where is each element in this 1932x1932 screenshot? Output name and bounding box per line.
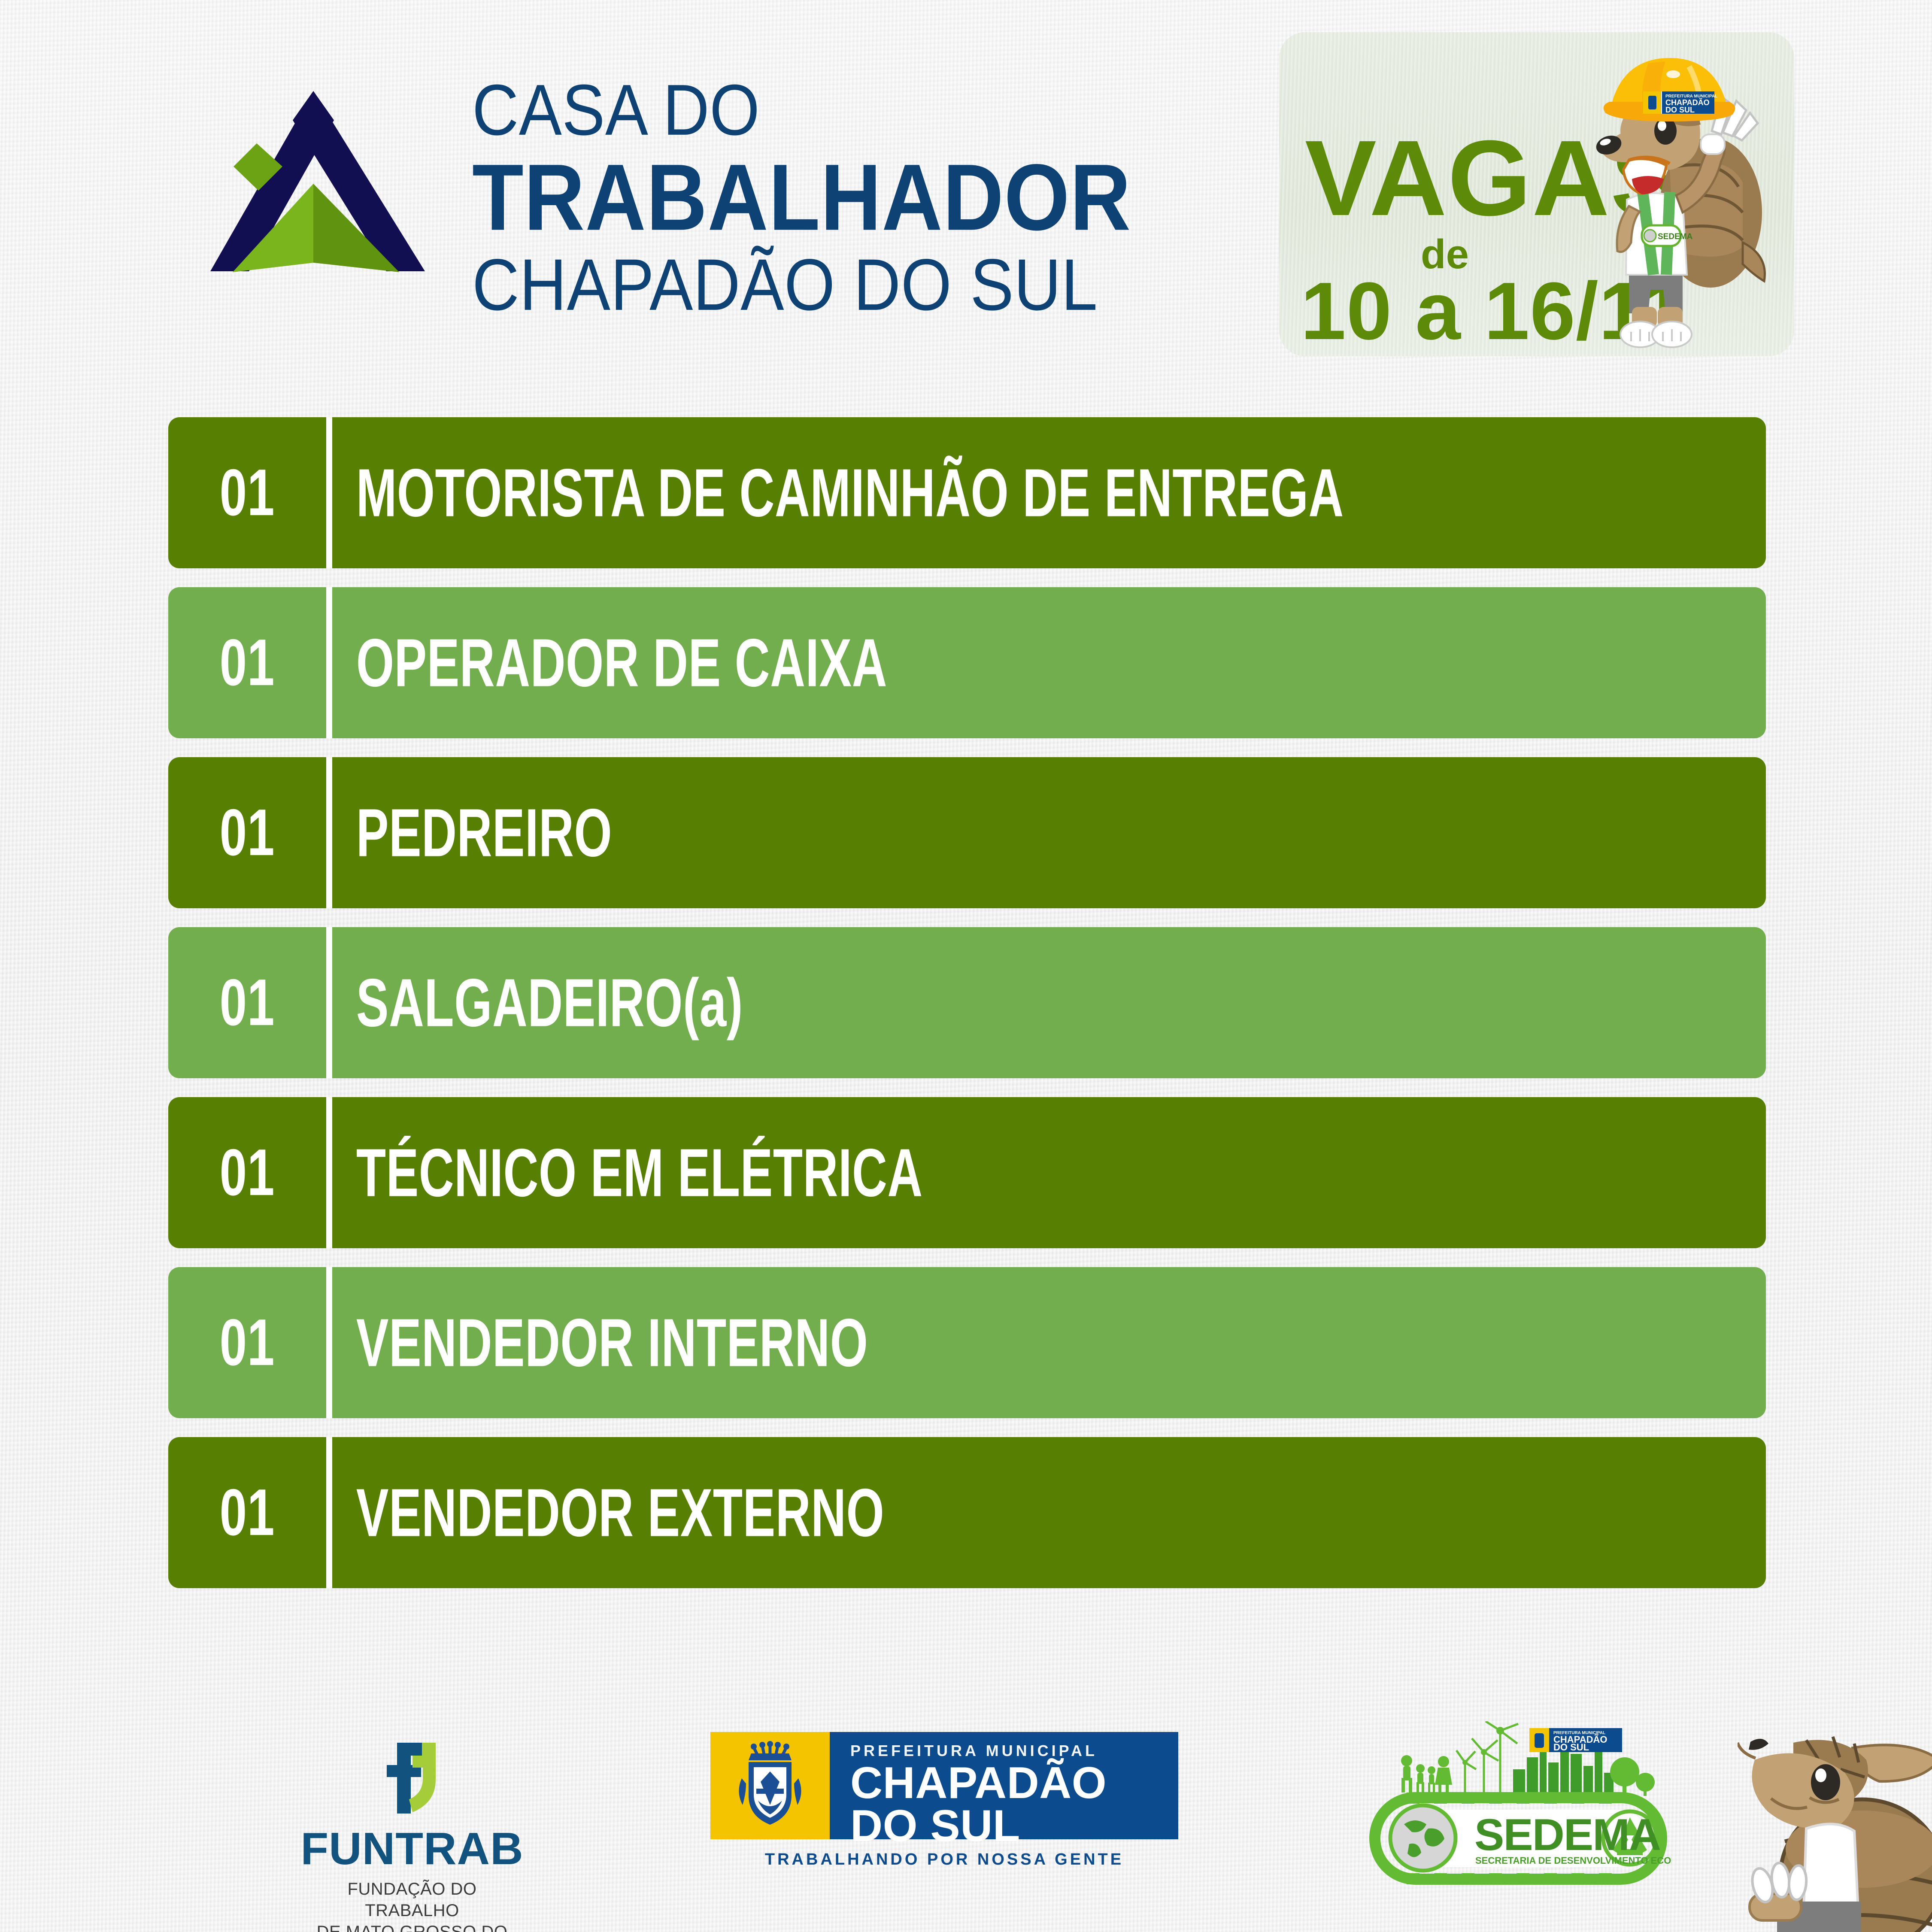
job-row[interactable]: 01 VENDEDOR INTERNO xyxy=(168,1267,1766,1418)
brand-lockup: CASA DO TRABALHADOR CHAPADÃO DO SUL xyxy=(185,75,1131,313)
job-count: 01 xyxy=(175,965,320,1040)
brand-text-block: CASA DO TRABALHADOR CHAPADÃO DO SUL xyxy=(472,75,1131,313)
funtrab-subtitle: FUNDAÇÃO DO TRABALHO DE MATO GROSSO DO S… xyxy=(300,1878,524,1932)
row-divider xyxy=(326,927,332,1078)
row-divider xyxy=(326,587,332,738)
brand-line-trabalhador: TRABALHADOR xyxy=(472,152,1131,243)
job-title: MOTORISTA DE CAMINHÃO DE ENTREGA xyxy=(332,454,1344,532)
job-title: PEDREIRO xyxy=(332,794,612,872)
job-title: TÉCNICO EM ELÉTRICA xyxy=(332,1134,923,1212)
job-title: OPERADOR DE CAIXA xyxy=(332,624,887,702)
svg-text:SEDEMA: SEDEMA xyxy=(1474,1810,1660,1860)
poster-footer: FUNTRAB FUNDAÇÃO DO TRABALHO DE MATO GRO… xyxy=(0,1708,1932,1932)
prefeitura-badge: PREFEITURA MUNICIPAL CHAPADÃO DO SUL xyxy=(710,1732,1178,1839)
row-divider xyxy=(326,1437,332,1588)
armadillo-mascot-icon xyxy=(1738,1734,1932,1932)
job-count: 01 xyxy=(175,1305,320,1380)
poster-header: CASA DO TRABALHADOR CHAPADÃO DO SUL VAGA… xyxy=(0,0,1932,386)
funtrab-subtitle-line2: DE MATO GROSSO DO SUL xyxy=(300,1921,524,1932)
sedema-gear-globe-icon: PREFEITURA MUNICIPAL CHAPADÃO DO SUL xyxy=(1367,1721,1672,1893)
svg-text:DO SUL: DO SUL xyxy=(1553,1742,1589,1753)
job-title: VENDEDOR INTERNO xyxy=(332,1304,868,1382)
vagas-date-badge: VAGAS de 10 a 16/11 xyxy=(1279,32,1794,356)
prefeitura-name-line1: CHAPADÃO xyxy=(850,1762,1178,1805)
job-row[interactable]: 01 OPERADOR DE CAIXA xyxy=(168,587,1766,738)
svg-text:SECRETARIA DE DESENVOLVIMENTO: SECRETARIA DE DESENVOLVIMENTO ECONÔMICO … xyxy=(1475,1855,1672,1866)
funtrab-logo: FUNTRAB FUNDAÇÃO DO TRABALHO DE MATO GRO… xyxy=(300,1738,524,1932)
job-title: SALGADEIRO(a) xyxy=(332,964,743,1042)
svg-text:DO SUL: DO SUL xyxy=(1665,106,1695,114)
funtrab-name: FUNTRAB xyxy=(300,1826,524,1871)
funtrab-subtitle-line1: FUNDAÇÃO DO TRABALHO xyxy=(300,1878,524,1921)
chapadao-do-sul-coat-of-arms-icon xyxy=(710,1732,830,1839)
job-count: 01 xyxy=(175,1475,320,1550)
prefeitura-kicker: PREFEITURA MUNICIPAL xyxy=(850,1743,1178,1759)
row-divider xyxy=(326,1097,332,1248)
vacancy-poster: CASA DO TRABALHADOR CHAPADÃO DO SUL VAGA… xyxy=(0,0,1932,1932)
job-title: VENDEDOR EXTERNO xyxy=(332,1474,884,1552)
prefeitura-logo: PREFEITURA MUNICIPAL CHAPADÃO DO SUL TRA… xyxy=(710,1732,1178,1869)
row-divider xyxy=(326,417,332,568)
job-row[interactable]: 01 PEDREIRO xyxy=(168,757,1766,908)
prefeitura-wordmark: PREFEITURA MUNICIPAL CHAPADÃO DO SUL xyxy=(830,1732,1178,1839)
job-count: 01 xyxy=(175,455,320,531)
job-count: 01 xyxy=(175,795,320,870)
job-count: 01 xyxy=(175,625,320,701)
brand-line-casa: CASA DO xyxy=(472,75,760,144)
prefeitura-slogan: TRABALHANDO POR NOSSA GENTE xyxy=(710,1850,1178,1869)
row-divider xyxy=(326,1267,332,1418)
job-row[interactable]: 01 MOTORISTA DE CAMINHÃO DE ENTREGA xyxy=(168,417,1766,568)
armadillo-mascot-hardhat-icon: SEDEMA xyxy=(1541,41,1790,356)
prefeitura-name-line2: DO SUL xyxy=(850,1805,1178,1848)
job-row[interactable]: 01 SALGADEIRO(a) xyxy=(168,927,1766,1078)
svg-text:SEDEMA: SEDEMA xyxy=(1658,232,1693,241)
casa-trabalhador-house-logo-icon xyxy=(185,82,459,306)
job-row[interactable]: 01 VENDEDOR EXTERNO xyxy=(168,1437,1766,1588)
job-count: 01 xyxy=(175,1135,320,1210)
job-row[interactable]: 01 TÉCNICO EM ELÉTRICA xyxy=(168,1097,1766,1248)
job-vacancy-list: 01 MOTORISTA DE CAMINHÃO DE ENTREGA 01 O… xyxy=(168,417,1766,1607)
funtrab-f-monogram-icon xyxy=(371,1738,453,1820)
row-divider xyxy=(326,757,332,908)
brand-line-chapadao: CHAPADÃO DO SUL xyxy=(472,250,1098,320)
sedema-logo: PREFEITURA MUNICIPAL CHAPADÃO DO SUL xyxy=(1367,1721,1672,1893)
